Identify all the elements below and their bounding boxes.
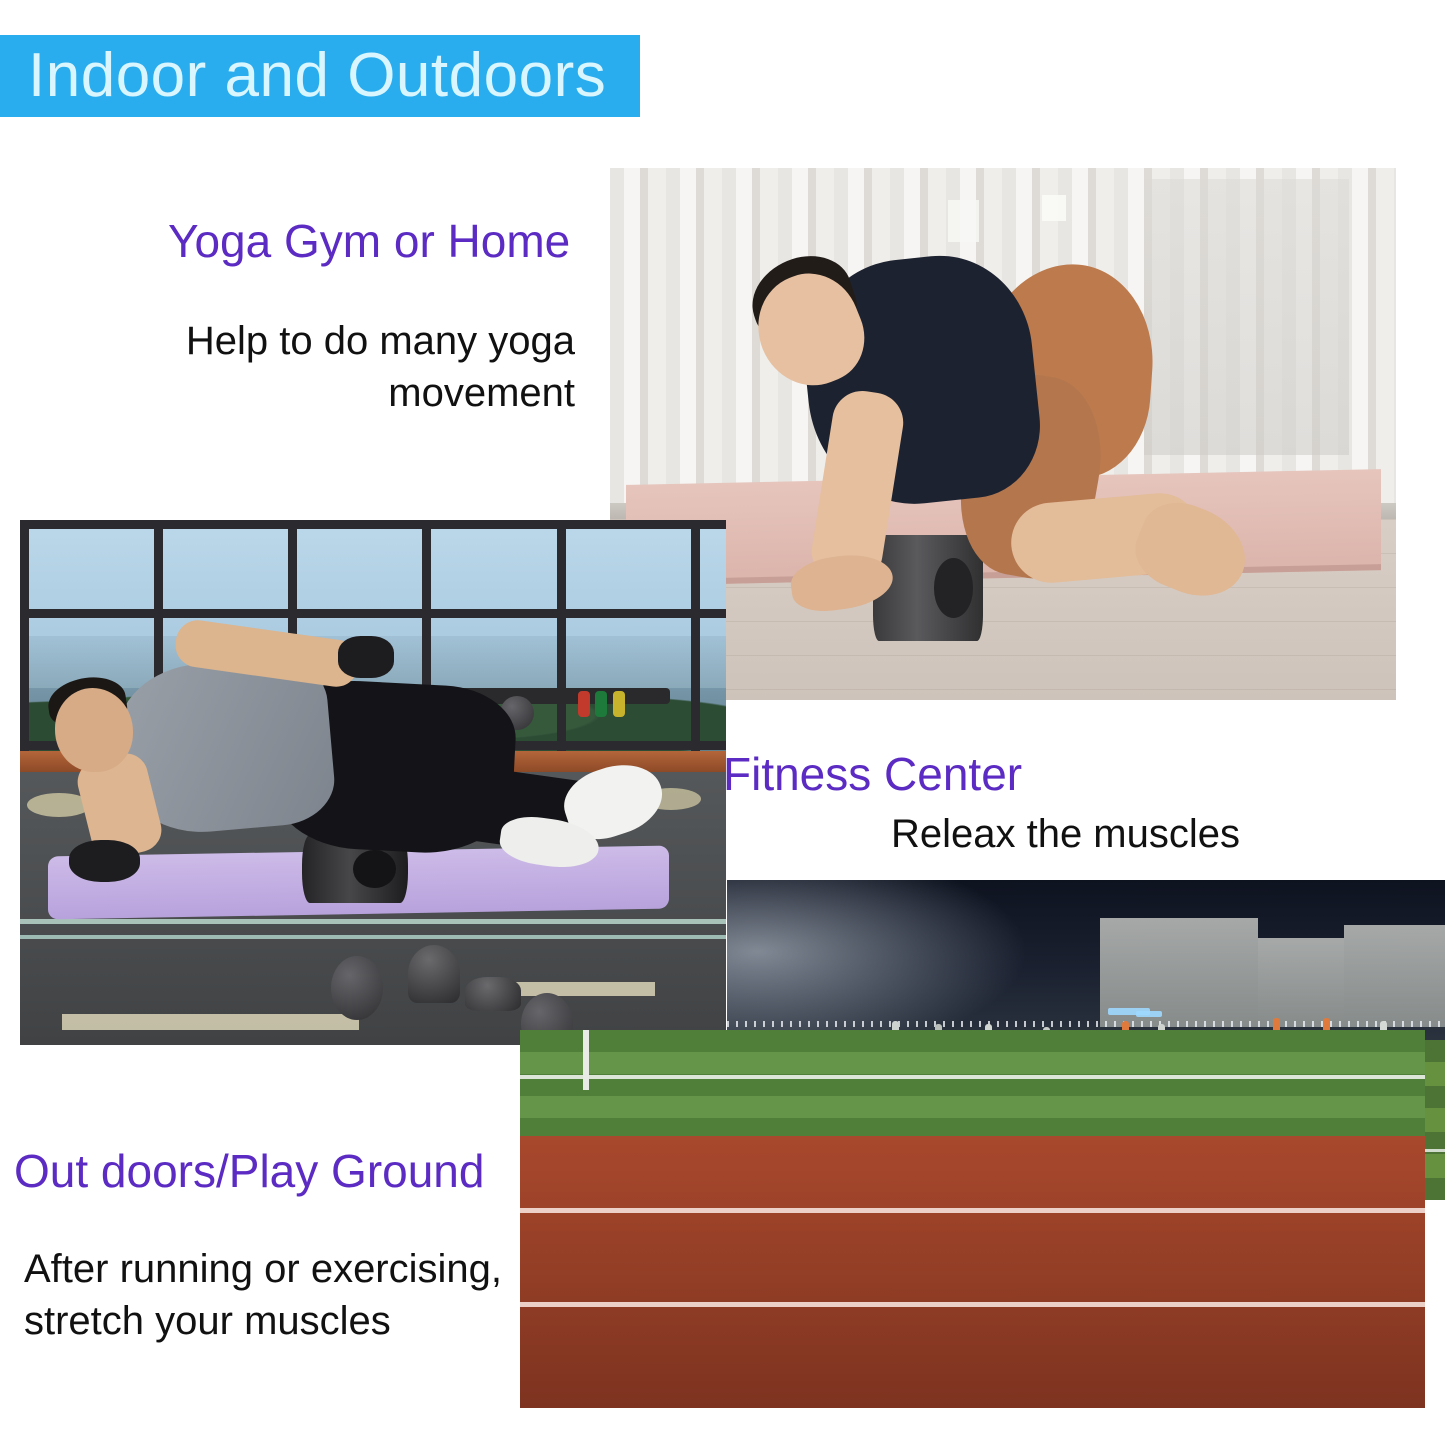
- window-pane-icon: [1144, 179, 1348, 456]
- track-students-photo: [520, 1030, 1425, 1408]
- curtain-highlight-2-icon: [1042, 195, 1066, 222]
- yoga-home-photo: [610, 168, 1396, 700]
- section-body-fitness: Releax the muscles: [760, 808, 1240, 860]
- infographic-canvas: Indoor and Outdoors Yoga Gym or Home Hel…: [0, 0, 1445, 1445]
- weight-plate-icon: [613, 691, 625, 717]
- window-mullion-icon: [557, 520, 566, 751]
- section-title-yoga: Yoga Gym or Home: [168, 215, 570, 267]
- floor-line: [20, 935, 726, 939]
- massage-ball-icon: [331, 956, 383, 1020]
- floor-line: [20, 919, 726, 924]
- section-title-outdoor: Out doors/Play Ground: [14, 1145, 484, 1197]
- workout-glove-icon: [338, 636, 394, 678]
- lane-line: [520, 1208, 1425, 1213]
- workout-glove-icon: [69, 840, 140, 882]
- spiky-massage-ball-icon: [465, 977, 521, 1011]
- header-banner: Indoor and Outdoors: [0, 35, 640, 117]
- field-line: [520, 1075, 1425, 1079]
- foam-roller-icon: [873, 535, 983, 641]
- goal-post-icon: [583, 1030, 589, 1090]
- window-mullion-icon: [20, 520, 29, 751]
- person-head: [55, 688, 133, 772]
- weight-plate-icon: [578, 691, 590, 717]
- window-rail-icon: [20, 520, 726, 529]
- lane-line: [520, 1302, 1425, 1307]
- section-title-fitness: Fitness Center: [723, 748, 1022, 800]
- section-body-yoga: Help to do many yoga movement: [120, 315, 575, 419]
- building: [1344, 925, 1445, 1027]
- curtain-highlight-icon: [948, 200, 979, 243]
- perimeter-fence: [727, 1021, 1445, 1027]
- floor-line: [62, 1014, 359, 1030]
- stadium-light-icon: [1136, 1011, 1162, 1017]
- section-body-outdoor: After running or exercising, stretch you…: [24, 1243, 524, 1347]
- weight-plate-icon: [595, 691, 607, 717]
- running-track: [520, 1136, 1425, 1408]
- massage-cone-icon: [408, 945, 460, 1003]
- grass-field: [520, 1030, 1425, 1143]
- window-mullion-icon: [691, 520, 700, 751]
- building: [1258, 938, 1344, 1028]
- gym-floor-photo: [20, 520, 726, 1045]
- banner-title: Indoor and Outdoors: [0, 45, 606, 107]
- window-rail-icon: [20, 609, 726, 618]
